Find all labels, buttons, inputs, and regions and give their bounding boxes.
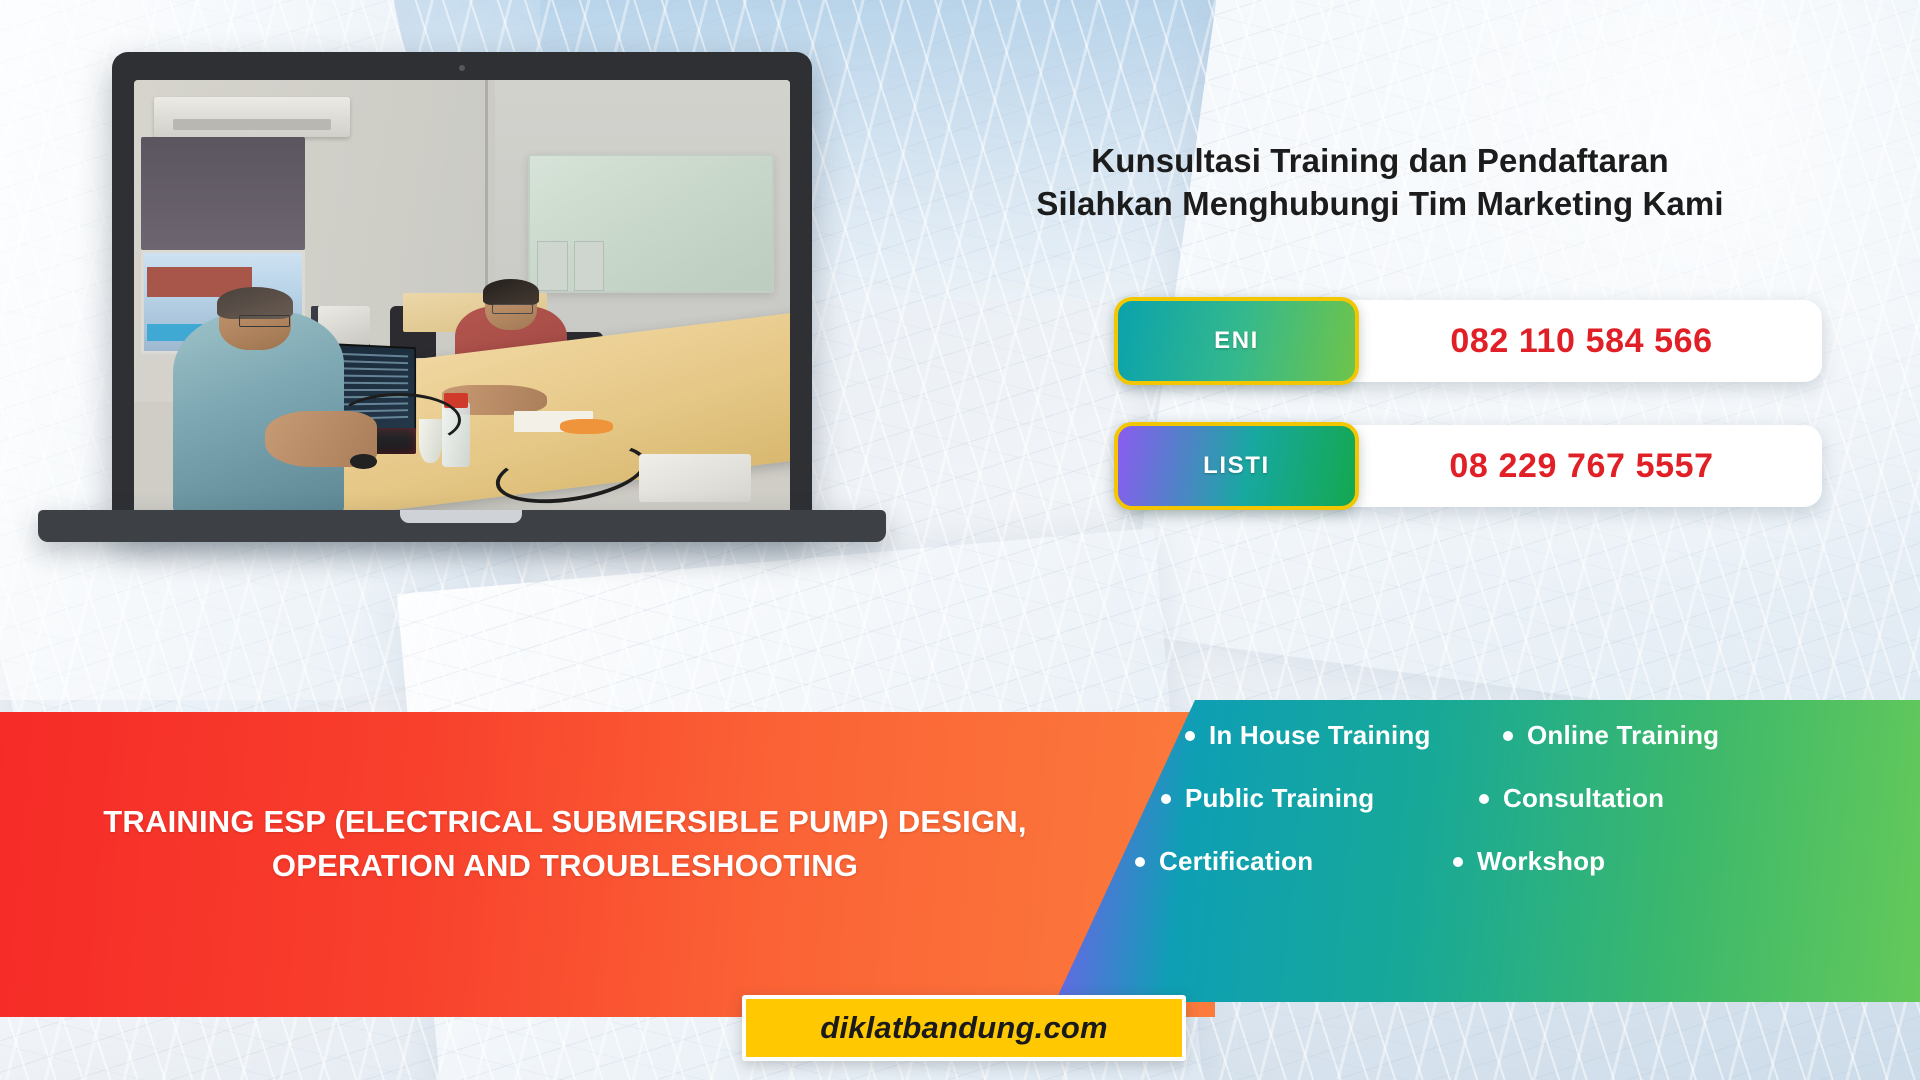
service-item-public-training[interactable]: Public Training: [1161, 783, 1479, 814]
training-title-line-2: OPERATION AND TROUBLESHOOTING: [0, 844, 1130, 888]
poster-canvas: Kunsultasi Training dan Pendaftaran Sila…: [0, 0, 1920, 1080]
services-row-3: Certification Workshop: [1135, 846, 1885, 877]
service-item-consultation[interactable]: Consultation: [1479, 783, 1797, 814]
service-item-certification[interactable]: Certification: [1135, 846, 1453, 877]
contact-name-eni: ENI: [1214, 327, 1259, 355]
photo-person-right-glasses-icon: [492, 304, 533, 315]
photo-window-blind: [141, 137, 305, 250]
photo-board-note-2: [574, 241, 604, 291]
laptop-screen-bezel: [134, 80, 790, 515]
contact-badge-eni: ENI: [1114, 297, 1359, 385]
laptop-mockup: [112, 52, 812, 537]
services-row-2: Public Training Consultation: [1161, 783, 1885, 814]
photo-board-note-1: [537, 241, 567, 291]
bullet-icon: [1503, 731, 1513, 741]
service-label: Online Training: [1527, 720, 1719, 751]
contact-phone-listi[interactable]: 08 229 767 5557: [1359, 447, 1822, 486]
contact-badge-listi: LISTI: [1114, 422, 1359, 510]
photo-projector: [639, 454, 751, 502]
laptop-trackpad-notch: [400, 510, 522, 523]
contact-phone-eni[interactable]: 082 110 584 566: [1359, 322, 1822, 361]
photo-person-left-glasses-icon: [239, 315, 290, 327]
webcam-icon: [459, 65, 465, 71]
services-list: In House Training Online Training Public…: [1185, 720, 1885, 909]
heading-line-1: Kunsultasi Training dan Pendaftaran: [980, 140, 1780, 183]
service-label: In House Training: [1209, 720, 1431, 751]
bullet-icon: [1135, 857, 1145, 867]
contact-card-listi[interactable]: LISTI 08 229 767 5557: [1122, 425, 1822, 507]
photo-ac-vent: [173, 119, 330, 129]
training-title: TRAINING ESP (ELECTRICAL SUBMERSIBLE PUM…: [0, 800, 1130, 888]
contact-name-listi: LISTI: [1203, 452, 1270, 480]
training-title-line-1: TRAINING ESP (ELECTRICAL SUBMERSIBLE PUM…: [0, 800, 1130, 844]
photo-computer-mouse: [350, 454, 376, 469]
training-photo: [134, 80, 790, 515]
service-item-workshop[interactable]: Workshop: [1453, 846, 1771, 877]
heading-line-2: Silahkan Menghubungi Tim Marketing Kami: [980, 183, 1780, 226]
service-label: Public Training: [1185, 783, 1374, 814]
photo-person-right-hair: [483, 279, 539, 305]
website-badge[interactable]: diklatbandung.com: [742, 995, 1186, 1061]
website-url: diklatbandung.com: [820, 1010, 1108, 1046]
bullet-icon: [1479, 794, 1489, 804]
contact-card-eni[interactable]: ENI 082 110 584 566: [1122, 300, 1822, 382]
service-label: Certification: [1159, 846, 1313, 877]
bullet-icon: [1161, 794, 1171, 804]
bullet-icon: [1453, 857, 1463, 867]
service-item-in-house-training[interactable]: In House Training: [1185, 720, 1503, 751]
service-label: Consultation: [1503, 783, 1664, 814]
services-row-1: In House Training Online Training: [1185, 720, 1885, 751]
photo-air-conditioner: [154, 97, 351, 136]
photo-orange-cloth: [560, 419, 612, 434]
service-label: Workshop: [1477, 846, 1605, 877]
bullet-icon: [1185, 731, 1195, 741]
service-item-online-training[interactable]: Online Training: [1503, 720, 1821, 751]
contact-heading: Kunsultasi Training dan Pendaftaran Sila…: [980, 140, 1780, 226]
